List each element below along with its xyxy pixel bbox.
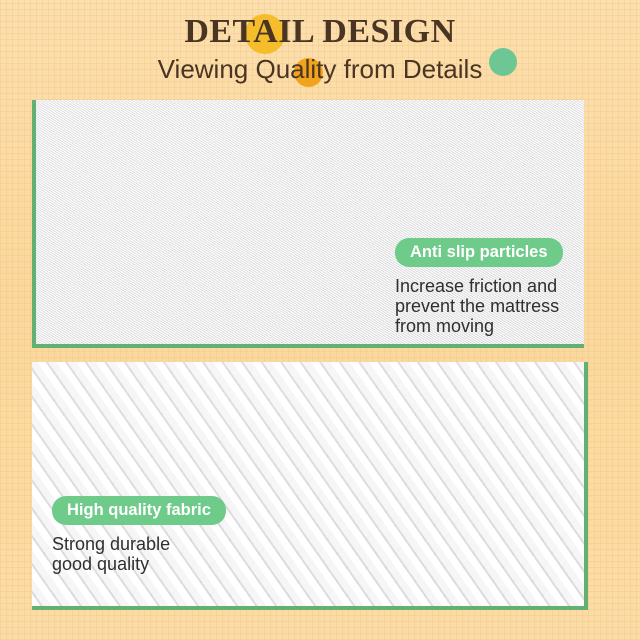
high-quality-fabric-callout: High quality fabric Strong durable good … — [52, 496, 262, 574]
page-title: DETAIL DESIGN — [0, 11, 640, 53]
anti-slip-callout: Anti slip particles Increase friction an… — [395, 238, 595, 336]
anti-slip-badge: Anti slip particles — [395, 238, 563, 267]
high-quality-fabric-description: Strong durable good quality — [52, 534, 262, 574]
detail-design-page: DETAIL DESIGN Viewing Quality from Detai… — [0, 0, 640, 640]
page-subtitle: Viewing Quality from Details — [0, 52, 640, 86]
anti-slip-description: Increase friction and prevent the mattre… — [395, 276, 595, 336]
high-quality-fabric-badge: High quality fabric — [52, 496, 226, 525]
page-header: DETAIL DESIGN Viewing Quality from Detai… — [0, 0, 640, 95]
